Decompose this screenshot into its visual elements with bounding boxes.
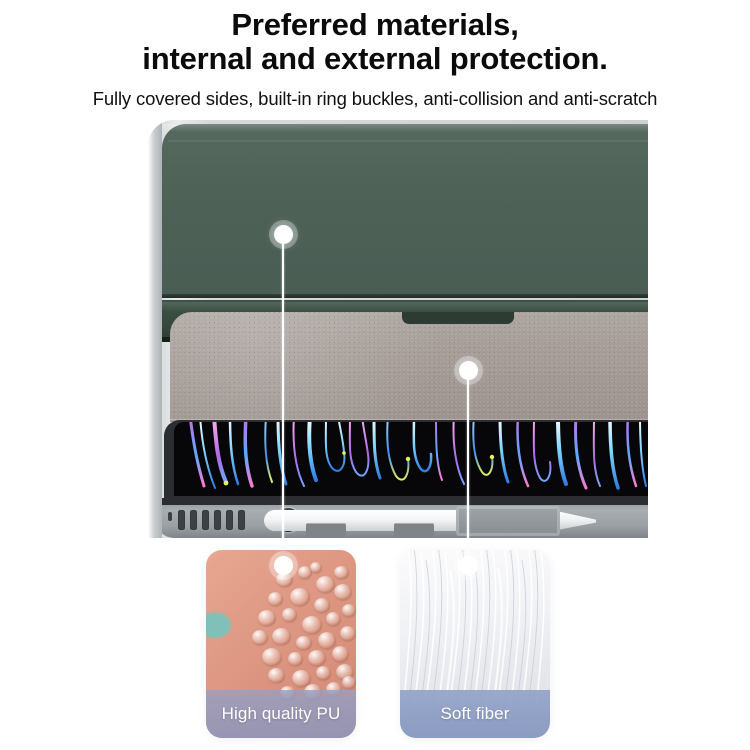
- callout-label-fiber: Soft fiber: [400, 690, 550, 738]
- case-green-front-flap: [162, 124, 648, 298]
- tablet-bottom-edge: [156, 498, 648, 538]
- tablet-screen-bezel: [164, 420, 648, 498]
- callout-marker-dot-fiber: [459, 556, 478, 575]
- ring-buckle: [456, 506, 560, 536]
- marker-dot-outer-pu: [274, 225, 293, 244]
- product-feature-image: Preferred materials, internal and extern…: [0, 0, 750, 750]
- speaker-grille: [178, 510, 266, 530]
- headline-line-1: Preferred materials,: [231, 7, 518, 42]
- flap-edge-shadow: [162, 294, 648, 298]
- marker-dot-inner-fiber: [459, 361, 478, 380]
- case-soft-fiber-lining: [170, 312, 648, 422]
- flap-highlight: [162, 124, 648, 132]
- case-outer-shell: [148, 120, 648, 538]
- product-photo: [148, 120, 648, 540]
- callout-label-pu-text: High quality PU: [222, 704, 341, 724]
- tablet-screen: [174, 422, 648, 496]
- callout-card-fiber[interactable]: Soft fiber: [400, 550, 550, 738]
- callout-marker-dot-pu: [274, 556, 293, 575]
- flap-crease: [168, 140, 648, 142]
- callout-label-fiber-text: Soft fiber: [440, 704, 509, 724]
- headline-line-2: internal and external protection.: [0, 42, 750, 76]
- callout-label-pu: High quality PU: [206, 690, 356, 738]
- connector-line-fiber: [467, 379, 469, 565]
- lining-texture: [170, 312, 648, 422]
- stylus-clip-left: [306, 523, 346, 537]
- microphone-port: [168, 512, 172, 521]
- wallpaper-light-ribbons: [174, 422, 648, 496]
- stylus-clip-right: [394, 523, 434, 537]
- subheading: Fully covered sides, built-in ring buckl…: [0, 88, 750, 110]
- bezel-dark-strip: [156, 498, 648, 505]
- page-title: Preferred materials, internal and extern…: [0, 8, 750, 76]
- callout-card-pu[interactable]: High quality PU: [206, 550, 356, 738]
- connector-line-pu: [282, 243, 284, 565]
- lining-notch: [402, 312, 514, 324]
- fold-sheen: [162, 302, 648, 312]
